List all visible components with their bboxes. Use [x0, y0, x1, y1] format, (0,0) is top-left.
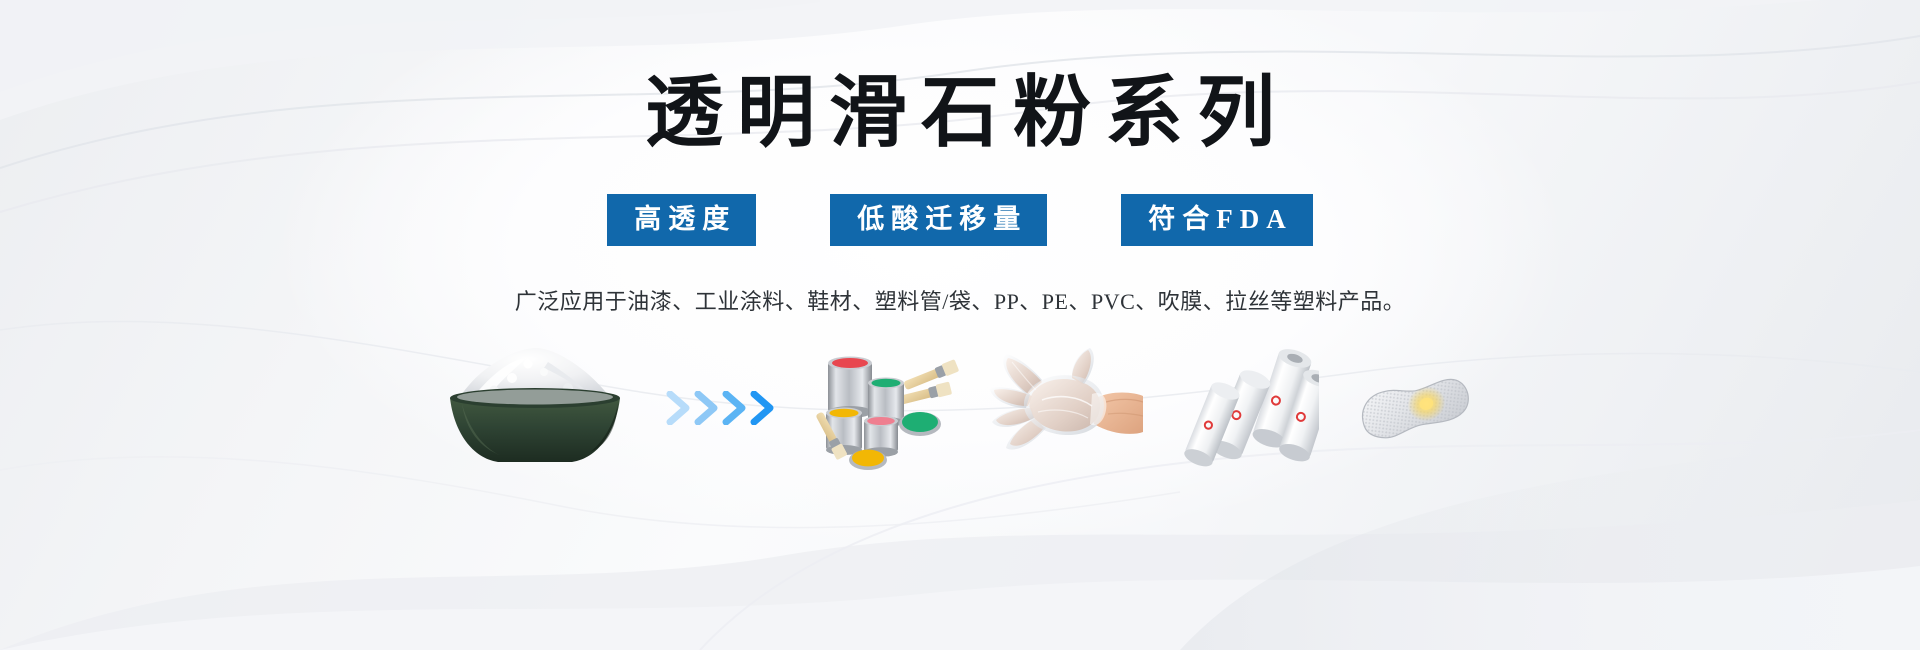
plastic-glove-image	[988, 343, 1143, 473]
film-rolls-image	[1169, 343, 1319, 473]
product-banner: 透明滑石粉系列 高透度 低酸迁移量 符合FDA 广泛应用于油漆、工业涂料、鞋材、…	[0, 0, 1920, 650]
chevron-right-icon	[722, 391, 748, 425]
application-description: 广泛应用于油漆、工业涂料、鞋材、塑料管/袋、PP、PE、PVC、吹膜、拉丝等塑料…	[515, 284, 1406, 316]
application-image-strip	[440, 343, 1480, 473]
banner-content: 透明滑石粉系列 高透度 低酸迁移量 符合FDA 广泛应用于油漆、工业涂料、鞋材、…	[0, 0, 1920, 650]
chevron-right-icon	[750, 391, 776, 425]
feature-badge-group: 高透度 低酸迁移量 符合FDA	[607, 194, 1313, 246]
badge-low-acid-migration: 低酸迁移量	[830, 194, 1047, 246]
page-title: 透明滑石粉系列	[631, 74, 1289, 152]
chevron-right-icon	[666, 391, 692, 425]
badge-fda-compliant: 符合FDA	[1121, 194, 1313, 246]
talc-powder-bowl-image	[440, 343, 630, 473]
paint-cans-image	[812, 343, 962, 473]
process-arrows	[666, 343, 776, 473]
badge-high-transparency: 高透度	[607, 194, 756, 246]
chevron-right-icon	[694, 391, 720, 425]
shoe-sole-image	[1345, 343, 1480, 473]
